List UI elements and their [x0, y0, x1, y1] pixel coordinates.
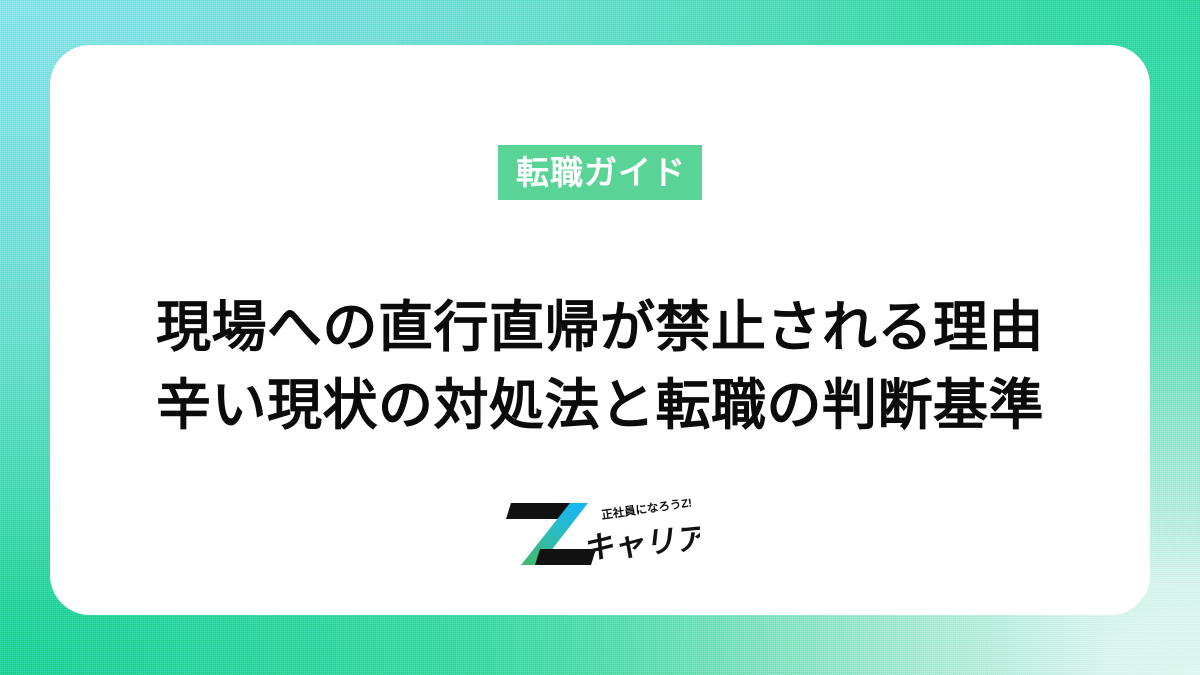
headline-line-2: 辛い現状の対処法と転職の判断基準 — [50, 366, 1150, 444]
headline-line-1: 現場への直行直帰が禁止される理由 — [50, 288, 1150, 366]
content-card: 転職ガイド 現場への直行直帰が禁止される理由 辛い現状の対処法と転職の判断基準 — [50, 45, 1150, 615]
brand-logo: 正社員になろうZ! キャリア — [500, 493, 700, 575]
logo-wordmark: キャリア — [582, 521, 700, 566]
og-image-canvas: 転職ガイド 現場への直行直帰が禁止される理由 辛い現状の対処法と転職の判断基準 — [0, 0, 1200, 675]
category-badge: 転職ガイド — [498, 145, 702, 200]
headline-block: 現場への直行直帰が禁止される理由 辛い現状の対処法と転職の判断基準 — [50, 288, 1150, 444]
logo-z-mark — [506, 503, 596, 565]
brand-logo-svg: 正社員になろうZ! キャリア — [500, 493, 700, 575]
logo-tagline: 正社員になろうZ! — [600, 495, 692, 522]
